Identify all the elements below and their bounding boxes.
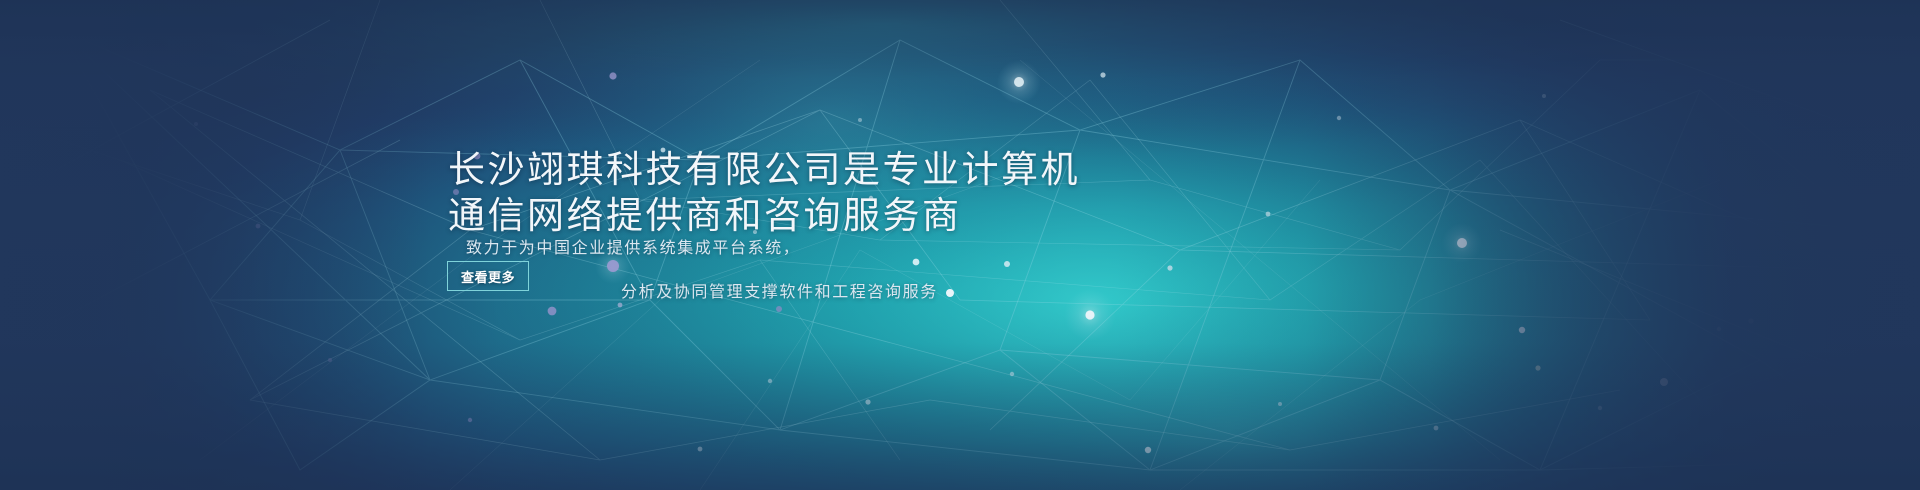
headline-line-1: 长沙翊琪科技有限公司是专业计算机 [448, 147, 1080, 193]
subheadline-line-2: 分析及协同管理支撑软件和工程咨询服务 [621, 271, 938, 315]
hero-banner: 长沙翊琪科技有限公司是专业计算机 通信网络提供商和咨询服务商 致力于为中国企业提… [0, 0, 1920, 490]
view-more-button[interactable]: 查看更多 [447, 261, 529, 291]
banner-subheadline: 致力于为中国企业提供系统集成平台系统， 分析及协同管理支撑软件和工程咨询服务 [466, 227, 938, 315]
banner-headline: 长沙翊琪科技有限公司是专业计算机 通信网络提供商和咨询服务商 [448, 147, 1080, 239]
banner-content: 长沙翊琪科技有限公司是专业计算机 通信网络提供商和咨询服务商 致力于为中国企业提… [0, 0, 1920, 490]
subheadline-line-1: 致力于为中国企业提供系统集成平台系统， [466, 227, 938, 271]
